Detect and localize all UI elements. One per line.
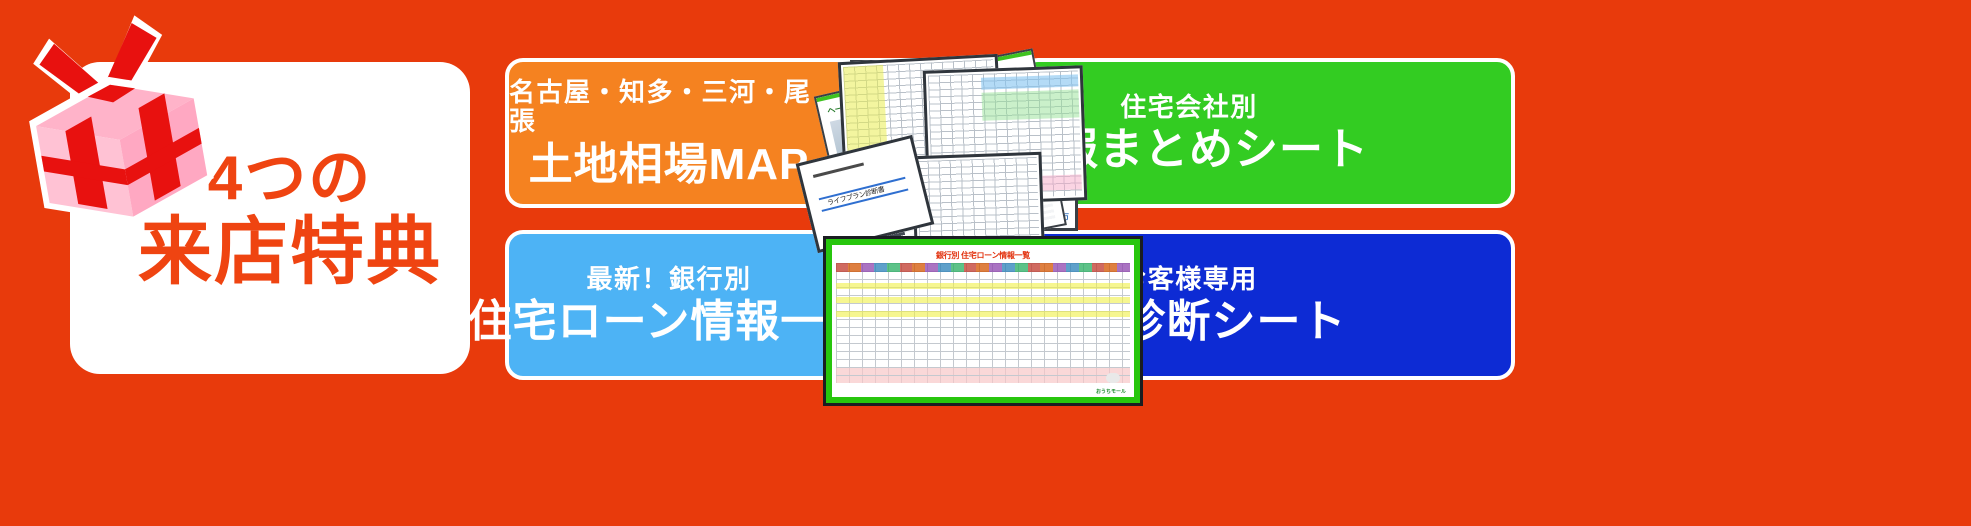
- card-label-group: 最新！銀行別 住宅ローン情報一覧: [509, 234, 829, 376]
- loan-chart-sheet: [911, 152, 1044, 246]
- card-subtitle: 名古屋・知多・三河・尾張: [509, 78, 829, 135]
- gift-box-icon: [8, 10, 228, 240]
- benefit-count-label: 4つの: [208, 146, 372, 211]
- benefit-card-grid: 名古屋・知多・三河・尾張 土地相場MAP 岡崎: [505, 58, 1955, 388]
- card-subtitle: 最新！銀行別: [586, 265, 751, 294]
- loan-documents-thumbnail: ライフプラン診断書: [805, 46, 1135, 251]
- table-title: 銀行別 住宅ローン情報一覧: [832, 250, 1134, 261]
- table-footer-logo: おうちモール: [1096, 388, 1126, 395]
- household-table-thumbnail: 銀行別 住宅ローン情報一覧 おうちモール: [823, 236, 1143, 406]
- card-title: 土地相場MAP: [529, 142, 810, 188]
- promo-banner: 4つの 来店特典 名古屋・知多・三: [0, 0, 1971, 526]
- card-subtitle: 住宅会社別: [1120, 93, 1258, 122]
- card-label-group: 名古屋・知多・三河・尾張 土地相場MAP: [509, 62, 829, 204]
- table-paper: 銀行別 住宅ローン情報一覧 おうちモール: [832, 245, 1134, 397]
- piggy-bank-icon: [1106, 373, 1120, 383]
- table-green-frame: 銀行別 住宅ローン情報一覧 おうちモール: [823, 236, 1143, 406]
- card-title: 住宅ローン情報一覧: [468, 299, 871, 345]
